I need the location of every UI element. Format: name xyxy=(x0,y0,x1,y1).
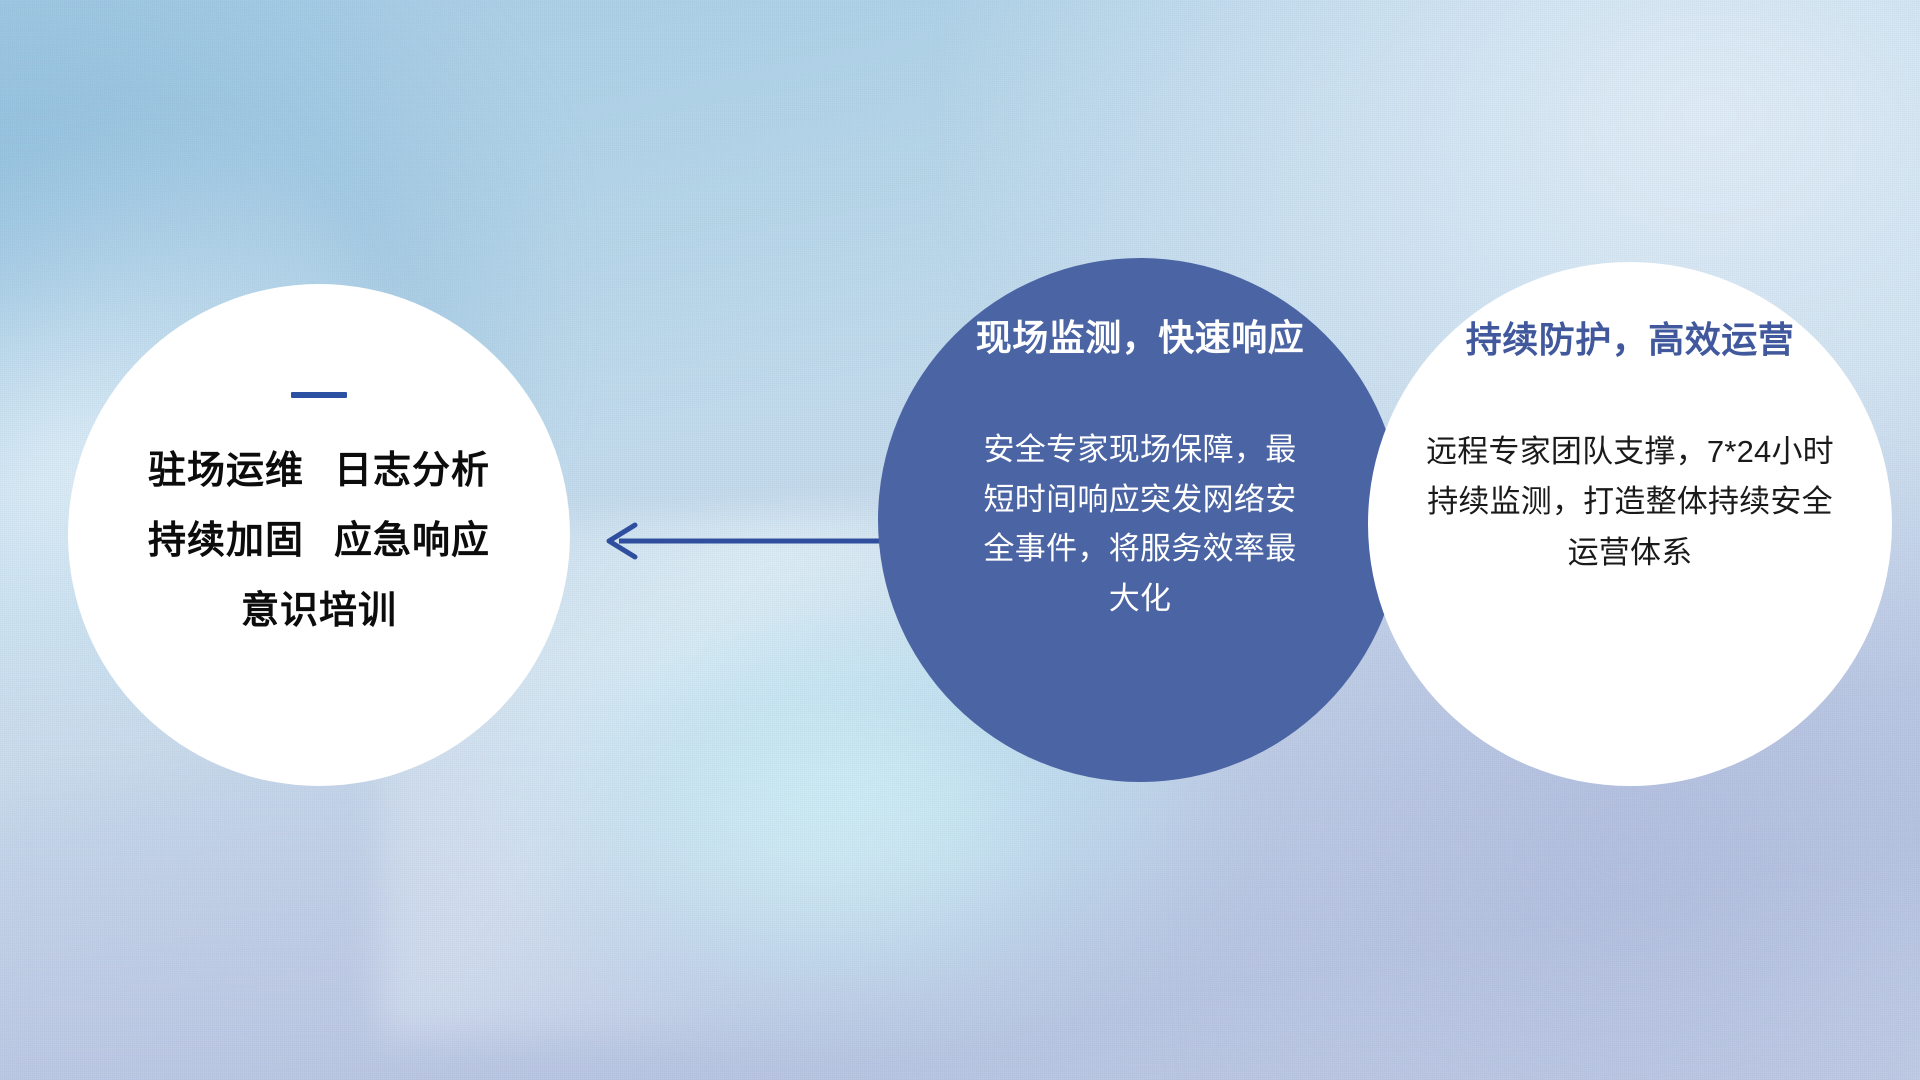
capability-label: 驻场运维 xyxy=(148,450,304,492)
continuous-protection-content: 持续防护，高效运营 远程专家团队支撑，7*24小时持续监测，打造整体持续安全运营… xyxy=(1368,262,1892,786)
continuous-protection-title: 持续防护，高效运营 xyxy=(1466,318,1795,361)
list-item: 持续加固应急响应 xyxy=(148,522,490,560)
capability-label: 应急响应 xyxy=(334,520,490,562)
capability-list: 驻场运维日志分析 持续加固应急响应 意识培训 xyxy=(148,452,490,630)
slide-canvas: 驻场运维日志分析 持续加固应急响应 意识培训 现场监测，快速响应 安全专家现场保… xyxy=(0,0,1920,1080)
capability-label: 意识培训 xyxy=(241,590,397,632)
capability-label: 持续加固 xyxy=(148,520,304,562)
onsite-monitoring-title: 现场监测，快速响应 xyxy=(976,316,1305,359)
service-capabilities-content: 驻场运维日志分析 持续加固应急响应 意识培训 xyxy=(68,284,570,786)
continuous-protection-body: 远程专家团队支撑，7*24小时持续监测，打造整体持续安全运营体系 xyxy=(1415,427,1845,578)
onsite-monitoring-content: 现场监测，快速响应 安全专家现场保障，最短时间响应突发网络安全事件，将服务效率最… xyxy=(878,258,1402,782)
leftward-arrow-icon xyxy=(595,516,895,566)
capability-label: 日志分析 xyxy=(334,450,490,492)
list-item: 驻场运维日志分析 xyxy=(148,452,490,490)
divider-dash xyxy=(291,392,347,398)
list-item: 意识培训 xyxy=(241,592,397,630)
onsite-monitoring-body: 安全专家现场保障，最短时间响应突发网络安全事件，将服务效率最大化 xyxy=(975,425,1305,623)
